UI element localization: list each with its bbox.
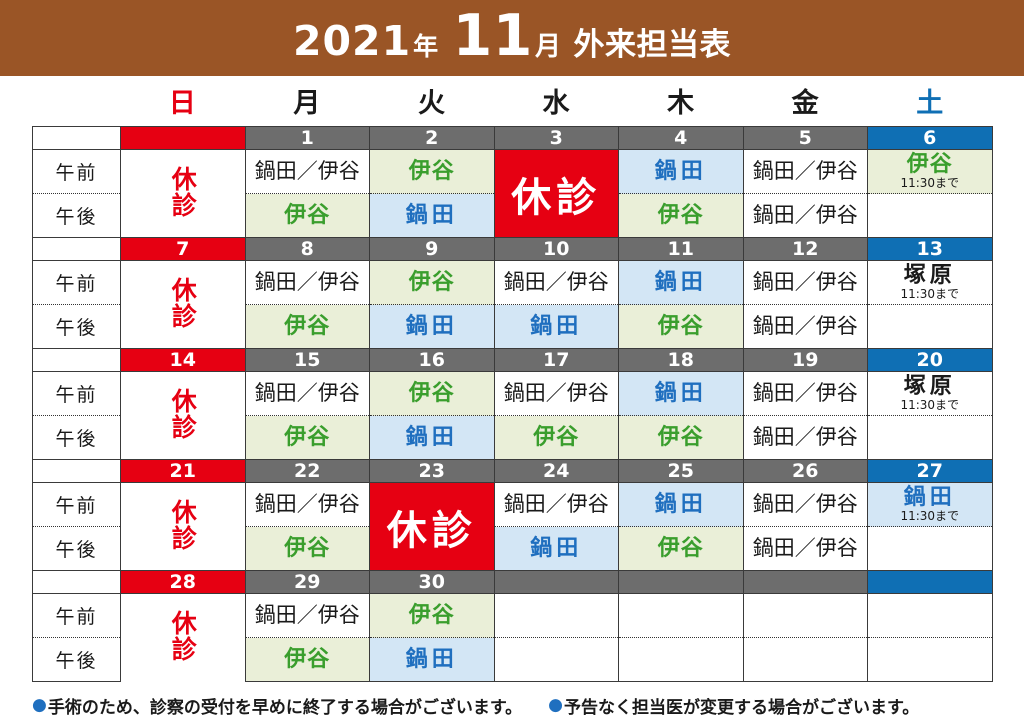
week-am-row: 午前休診鍋田／伊谷伊谷鍋田／伊谷鍋田鍋田／伊谷塚原11:30まで [33,261,993,305]
am-cell-4[interactable]: 鍋田 [619,150,744,194]
date-cell-13: 13 [868,238,993,261]
doctor-name: 鍋田 [406,203,458,228]
week-am-row: 午前休診鍋田／伊谷伊谷鍋田／伊谷鍋田鍋田／伊谷塚原11:30まで [33,372,993,416]
doctor-name: 鍋田／伊谷 [753,536,858,560]
am-cell-25[interactable]: 鍋田 [619,483,744,527]
date-cell-22: 22 [245,460,370,483]
date-row-spacer [33,349,121,372]
bullet-icon: ● [548,695,563,715]
date-cell-24: 24 [494,460,619,483]
session-label-am: 午前 [33,150,121,194]
week-date-row: 21222324252627 [33,460,993,483]
doctor-name: 鍋田／伊谷 [504,270,609,294]
pm-cell-6[interactable] [868,194,993,238]
pm-cell-2[interactable]: 鍋田 [370,194,495,238]
am-cell-empty[interactable] [743,594,868,638]
doctor-name: 鍋田／伊谷 [255,270,360,294]
doctor-name: 鍋田／伊谷 [255,381,360,405]
am-cell-20[interactable]: 塚原11:30まで [868,372,993,416]
sunday-closed-cell-28[interactable]: 休診 [121,594,246,682]
doctor-name: 鍋田 [530,314,582,339]
doctor-name: 鍋田／伊谷 [504,492,609,516]
sunday-closed-cell-21[interactable]: 休診 [121,483,246,571]
week-date-row: 123456 [33,127,993,150]
closed-label-vertical: 休診 [170,610,195,662]
weekday-sun: 日 [120,84,245,124]
date-cell-11: 11 [619,238,744,261]
weekday-sat: 土 [867,84,992,124]
date-cell-empty [743,571,868,594]
doctor-name: 鍋田／伊谷 [753,425,858,449]
date-cell-23: 23 [370,460,495,483]
doctor-name: 鍋田 [406,425,458,450]
footer-note-2: ● 予告なく担当医が変更する場合がございます。 [548,693,919,718]
doctor-name: 鍋田／伊谷 [255,603,360,627]
doctor-name: 塚原11:30まで [868,374,992,412]
am-cell-10[interactable]: 鍋田／伊谷 [494,261,619,305]
doctor-name: 鍋田 [655,270,707,295]
doctor-name: 鍋田 [406,314,458,339]
time-note: 11:30まで [868,288,992,301]
week-date-row: 78910111213 [33,238,993,261]
doctor-name: 鍋田 [655,159,707,184]
date-cell-4: 4 [619,127,744,150]
week-am-row: 午前休診鍋田／伊谷伊谷 [33,594,993,638]
doctor-name: 鍋田／伊谷 [255,492,360,516]
doctor-name: 鍋田／伊谷 [753,270,858,294]
weekday-fri: 金 [743,84,868,124]
doctor-name: 伊谷 [284,314,330,339]
doctor-name: 伊谷11:30まで [868,152,992,190]
am-cell-9[interactable]: 伊谷 [370,261,495,305]
pm-cell-27[interactable] [868,527,993,571]
am-cell-empty[interactable] [868,594,993,638]
pm-cell-15[interactable]: 伊谷 [245,416,370,460]
pm-cell-11[interactable]: 伊谷 [619,305,744,349]
date-cell-25: 25 [619,460,744,483]
am-cell-16[interactable]: 伊谷 [370,372,495,416]
pm-cell-empty[interactable] [743,638,868,682]
pm-cell-9[interactable]: 鍋田 [370,305,495,349]
doctor-name: 鍋田 [655,381,707,406]
date-cell-9: 9 [370,238,495,261]
doctor-name: 伊谷 [409,270,455,295]
title-month-unit: 月 [535,26,562,63]
am-cell-empty[interactable] [494,594,619,638]
doctor-name: 伊谷 [284,647,330,672]
session-label-pm: 午後 [33,194,121,238]
am-cell-15[interactable]: 鍋田／伊谷 [245,372,370,416]
pm-cell-12[interactable]: 鍋田／伊谷 [743,305,868,349]
am-cell-29[interactable]: 鍋田／伊谷 [245,594,370,638]
doctor-name: 伊谷 [658,203,704,228]
date-cell-empty [121,127,246,150]
closed-cell-23[interactable]: 休診 [370,483,495,571]
date-cell-12: 12 [743,238,868,261]
closed-label-vertical: 休診 [170,499,195,551]
pm-cell-29[interactable]: 伊谷 [245,638,370,682]
doctor-name: 塚原11:30まで [868,263,992,301]
date-cell-18: 18 [619,349,744,372]
pm-cell-24[interactable]: 鍋田 [494,527,619,571]
doctor-name: 鍋田／伊谷 [504,381,609,405]
weekday-tue: 火 [369,84,494,124]
doctor-name: 鍋田／伊谷 [753,203,858,227]
date-cell-30: 30 [370,571,495,594]
week-am-row: 午前休診鍋田／伊谷休診鍋田／伊谷鍋田鍋田／伊谷鍋田11:30まで [33,483,993,527]
doctor-name: 鍋田／伊谷 [753,159,858,183]
am-cell-5[interactable]: 鍋田／伊谷 [743,150,868,194]
pm-cell-empty[interactable] [619,638,744,682]
weekday-header: 日 月 火 水 木 金 土 [32,84,992,124]
am-cell-empty[interactable] [619,594,744,638]
sunday-closed-cell-14[interactable]: 休診 [121,372,246,460]
date-cell-20: 20 [868,349,993,372]
closed-cell-3[interactable]: 休診 [494,150,619,238]
session-label-am: 午前 [33,594,121,638]
doctor-name: 伊谷 [284,425,330,450]
doctor-name: 鍋田／伊谷 [753,492,858,516]
title-subtitle: 外来担当表 [573,19,731,64]
am-cell-1[interactable]: 鍋田／伊谷 [245,150,370,194]
am-cell-26[interactable]: 鍋田／伊谷 [743,483,868,527]
am-cell-30[interactable]: 伊谷 [370,594,495,638]
session-label-pm: 午後 [33,416,121,460]
title-year: 2021 [293,17,411,65]
pm-cell-19[interactable]: 鍋田／伊谷 [743,416,868,460]
date-cell-5: 5 [743,127,868,150]
footer-note-1-text: 手術のため、診察の受付を早めに終了する場合がございます。 [48,693,522,718]
date-cell-3: 3 [494,127,619,150]
weekday-mon: 月 [245,84,370,124]
doctor-name: 伊谷 [284,536,330,561]
schedule-table: 123456午前休診鍋田／伊谷伊谷休診鍋田鍋田／伊谷伊谷11:30まで午後伊谷鍋… [32,126,993,682]
date-cell-1: 1 [245,127,370,150]
pm-cell-22[interactable]: 伊谷 [245,527,370,571]
pm-cell-empty[interactable] [494,638,619,682]
time-note: 11:30まで [868,177,992,190]
doctor-name: 伊谷 [533,425,579,450]
date-cell-6: 6 [868,127,993,150]
doctor-name: 鍋田 [530,536,582,561]
week-date-row: 282930 [33,571,993,594]
doctor-name: 鍋田／伊谷 [753,381,858,405]
weekday-header-spacer [32,84,120,124]
doctor-name: 伊谷 [658,425,704,450]
session-label-am: 午前 [33,372,121,416]
doctor-name: 伊谷 [658,314,704,339]
date-row-spacer [33,460,121,483]
title-month: 11 [453,11,533,62]
session-label-pm: 午後 [33,527,121,571]
date-row-spacer [33,571,121,594]
date-cell-14: 14 [121,349,246,372]
doctor-name: 鍋田／伊谷 [753,314,858,338]
am-cell-2[interactable]: 伊谷 [370,150,495,194]
am-cell-13[interactable]: 塚原11:30まで [868,261,993,305]
pm-cell-17[interactable]: 伊谷 [494,416,619,460]
am-cell-19[interactable]: 鍋田／伊谷 [743,372,868,416]
am-cell-6[interactable]: 伊谷11:30まで [868,150,993,194]
doctor-name: 伊谷 [409,603,455,628]
week-date-row: 14151617181920 [33,349,993,372]
pm-cell-20[interactable] [868,416,993,460]
date-cell-17: 17 [494,349,619,372]
doctor-name: 伊谷 [658,536,704,561]
pm-cell-18[interactable]: 伊谷 [619,416,744,460]
closed-label-vertical: 休診 [170,166,195,218]
doctor-name: 鍋田11:30まで [868,485,992,523]
time-note: 11:30まで [868,510,992,523]
sunday-closed-cell-x[interactable]: 休診 [121,150,246,238]
date-row-spacer [33,238,121,261]
am-cell-17[interactable]: 鍋田／伊谷 [494,372,619,416]
date-cell-26: 26 [743,460,868,483]
footer-note-2-text: 予告なく担当医が変更する場合がございます。 [564,693,919,718]
date-cell-empty [494,571,619,594]
session-label-am: 午前 [33,261,121,305]
date-cell-empty [619,571,744,594]
am-cell-11[interactable]: 鍋田 [619,261,744,305]
pm-cell-16[interactable]: 鍋田 [370,416,495,460]
date-row-spacer [33,127,121,150]
am-cell-24[interactable]: 鍋田／伊谷 [494,483,619,527]
pm-cell-1[interactable]: 伊谷 [245,194,370,238]
pm-cell-10[interactable]: 鍋田 [494,305,619,349]
title-year-unit: 年 [413,27,439,63]
date-cell-27: 27 [868,460,993,483]
date-cell-8: 8 [245,238,370,261]
footer-note-1: ● 手術のため、診察の受付を早めに終了する場合がございます。 [32,693,522,718]
doctor-name: 伊谷 [284,203,330,228]
time-note: 11:30まで [868,399,992,412]
date-cell-21: 21 [121,460,246,483]
date-cell-10: 10 [494,238,619,261]
pm-cell-8[interactable]: 伊谷 [245,305,370,349]
doctor-name: 鍋田／伊谷 [255,159,360,183]
am-cell-12[interactable]: 鍋田／伊谷 [743,261,868,305]
pm-cell-empty[interactable] [868,638,993,682]
doctor-name: 鍋田 [655,492,707,517]
session-label-am: 午前 [33,483,121,527]
pm-cell-26[interactable]: 鍋田／伊谷 [743,527,868,571]
date-cell-29: 29 [245,571,370,594]
weekday-wed: 水 [494,84,619,124]
pm-cell-30[interactable]: 鍋田 [370,638,495,682]
schedule-page: 2021 年 11 月 外来担当表 日 月 火 水 木 金 土 123456午前… [0,0,1024,724]
doctor-name: 伊谷 [409,381,455,406]
session-label-pm: 午後 [33,305,121,349]
doctor-name: 鍋田 [406,647,458,672]
bullet-icon: ● [32,695,47,715]
date-cell-28: 28 [121,571,246,594]
footer-notes: ● 手術のため、診察の受付を早めに終了する場合がございます。 ● 予告なく担当医… [32,690,992,720]
am-cell-27[interactable]: 鍋田11:30まで [868,483,993,527]
pm-cell-25[interactable]: 伊谷 [619,527,744,571]
am-cell-8[interactable]: 鍋田／伊谷 [245,261,370,305]
session-label-pm: 午後 [33,638,121,682]
doctor-name: 伊谷 [409,159,455,184]
week-am-row: 午前休診鍋田／伊谷伊谷休診鍋田鍋田／伊谷伊谷11:30まで [33,150,993,194]
date-cell-15: 15 [245,349,370,372]
date-cell-2: 2 [370,127,495,150]
pm-cell-4[interactable]: 伊谷 [619,194,744,238]
sunday-closed-cell-7[interactable]: 休診 [121,261,246,349]
date-cell-empty [868,571,993,594]
page-title: 2021 年 11 月 外来担当表 [293,11,731,65]
date-cell-7: 7 [121,238,246,261]
am-cell-18[interactable]: 鍋田 [619,372,744,416]
weekday-thu: 木 [618,84,743,124]
date-cell-16: 16 [370,349,495,372]
pm-cell-5[interactable]: 鍋田／伊谷 [743,194,868,238]
closed-label-vertical: 休診 [170,388,195,440]
date-cell-19: 19 [743,349,868,372]
pm-cell-13[interactable] [868,305,993,349]
title-banner: 2021 年 11 月 外来担当表 [0,0,1024,76]
am-cell-22[interactable]: 鍋田／伊谷 [245,483,370,527]
closed-label-vertical: 休診 [170,277,195,329]
